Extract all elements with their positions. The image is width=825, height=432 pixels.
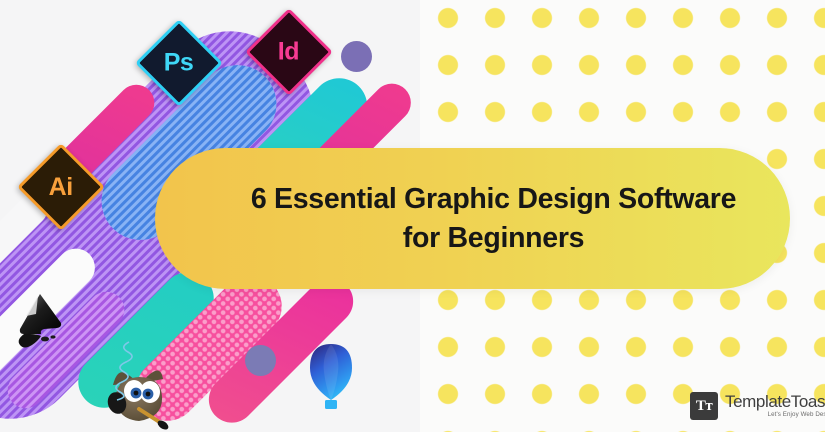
- shape-purple-circle-top: [341, 41, 372, 72]
- adobe-illustrator-icon-label: Ai: [49, 175, 73, 200]
- brand-name: TemplateToaster: [725, 393, 825, 410]
- adobe-indesign-icon-label: Id: [278, 40, 299, 65]
- title-line-2: for Beginners: [251, 219, 736, 257]
- brand-text-block: TemplateToaster Let's Enjoy Web Designin…: [725, 393, 825, 418]
- title-line-1: 6 Essential Graphic Design Software: [251, 180, 736, 218]
- brand-tagline: Let's Enjoy Web Designing: [725, 412, 825, 418]
- templatetoaster-logo-mark: Tт: [690, 392, 718, 420]
- page-title: 6 Essential Graphic Design Software for …: [181, 180, 764, 256]
- affinity-balloon-logo: [300, 340, 362, 420]
- squiggle-line: [95, 340, 141, 402]
- title-pill: 6 Essential Graphic Design Software for …: [155, 148, 790, 289]
- banner-canvas: Ai Ps Id: [0, 0, 825, 432]
- brand-logo[interactable]: Tт TemplateToaster Let's Enjoy Web Desig…: [690, 392, 825, 420]
- inkscape-logo: [10, 290, 68, 352]
- shape-purple-circle-bottom: [245, 345, 276, 376]
- adobe-photoshop-icon-label: Ps: [164, 51, 194, 76]
